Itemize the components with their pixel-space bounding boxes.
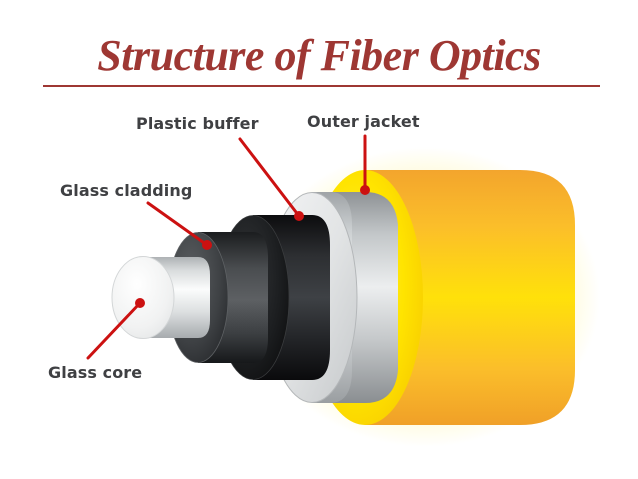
page-title: Structure of Fiber Optics <box>0 32 638 80</box>
leader-plastic-buffer <box>240 139 299 216</box>
leader-dot-glass-cladding <box>202 240 212 250</box>
page-title-underline <box>43 85 600 87</box>
glass-core-layer <box>112 257 210 339</box>
label-glass-core: Glass core <box>48 363 142 382</box>
leader-dot-outer-jacket <box>360 185 370 195</box>
label-outer-jacket: Outer jacket <box>307 112 420 131</box>
slide-canvas: Structure of Fiber Optics Plastic buffer… <box>0 0 638 479</box>
label-glass-cladding: Glass cladding <box>60 181 192 200</box>
leader-dot-glass-core <box>135 298 145 308</box>
leader-dot-plastic-buffer <box>294 211 304 221</box>
label-plastic-buffer: Plastic buffer <box>136 114 259 133</box>
leader-glass-cladding <box>148 203 207 245</box>
